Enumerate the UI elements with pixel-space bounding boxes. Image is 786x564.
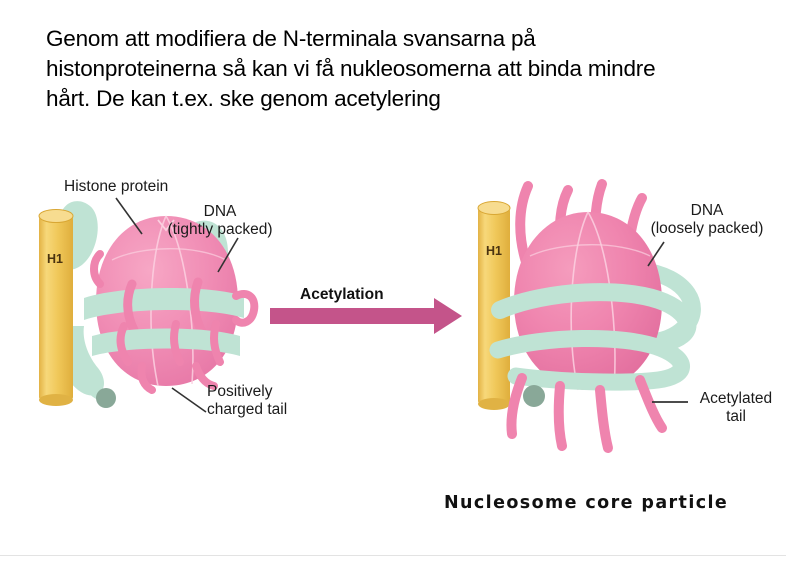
- label-dna-tightly-packed: DNA (tightly packed): [130, 203, 310, 240]
- label-histone-protein: Histone protein: [64, 178, 168, 196]
- h1-label-left: H1: [47, 252, 63, 266]
- label-positively-charged-tail: Positively charged tail: [207, 383, 357, 420]
- page-title: Genom att modifiera de N-terminala svans…: [46, 24, 762, 114]
- nucleosome-acetylation-figure: H1: [0, 150, 786, 540]
- bottom-divider: [0, 555, 786, 556]
- label-acetylation: Acetylation: [300, 286, 384, 304]
- h1-label-right: H1: [486, 244, 502, 258]
- leader-line-positive-tail: [172, 388, 206, 412]
- label-acetylated-tail: Acetylated tail: [686, 390, 786, 427]
- label-dna-loosely-packed: DNA (loosely packed): [632, 202, 782, 239]
- figure-caption: Nucleosome core particle: [444, 493, 728, 513]
- linker-histone-h1-left: H1: [39, 210, 73, 407]
